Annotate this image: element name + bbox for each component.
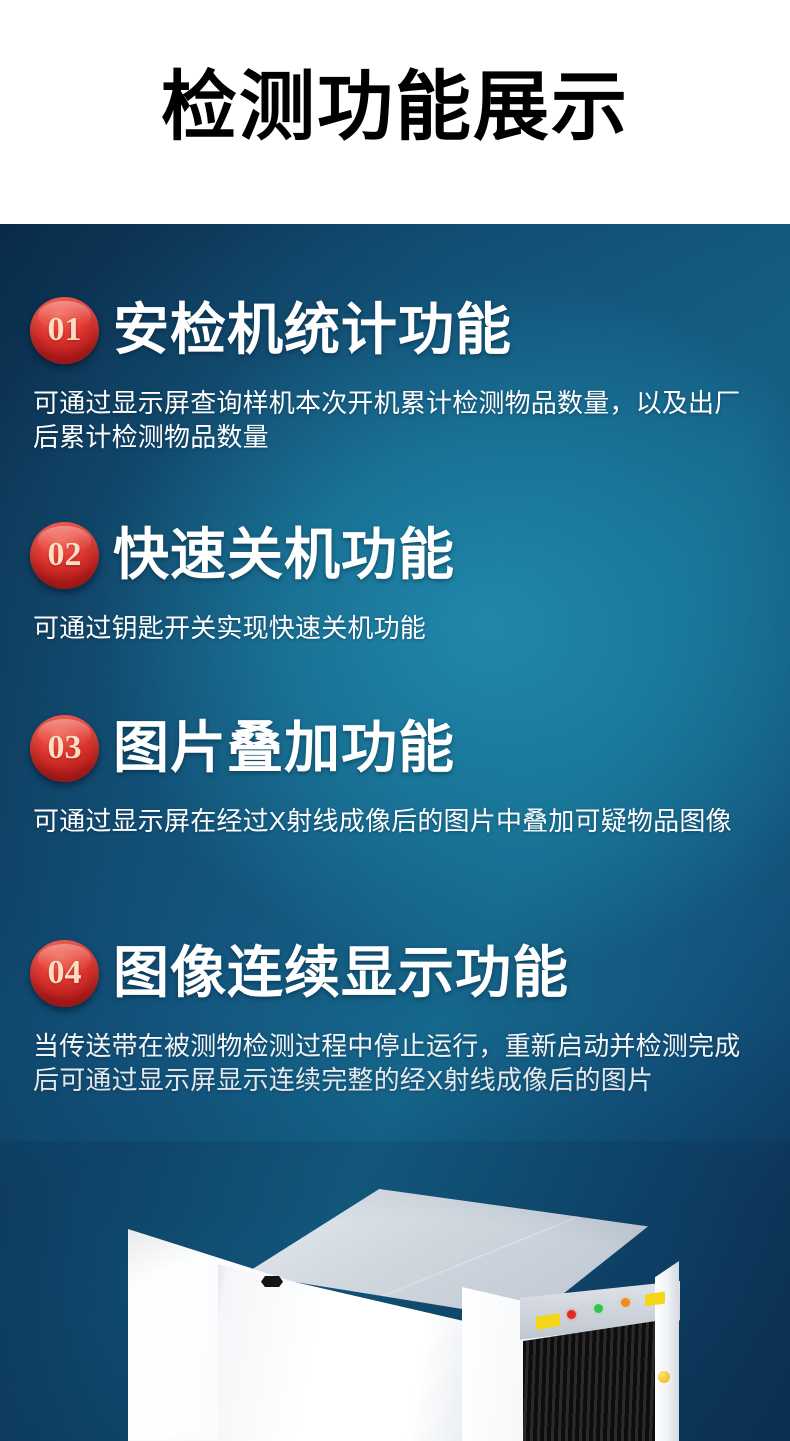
machine-left-panel xyxy=(128,1229,328,1441)
machine-front-panel xyxy=(218,1249,468,1441)
machine-top-deck xyxy=(228,1189,648,1359)
machine-front-edge xyxy=(218,1249,468,1441)
hazard-label-icon xyxy=(536,1313,560,1330)
number-badge-02: 02 xyxy=(30,522,99,589)
product-photo-xray-machine xyxy=(0,1141,790,1441)
title-band: 检测功能展示 xyxy=(0,0,790,224)
indicator-light-amber xyxy=(621,1298,630,1307)
machine-tunnel-header xyxy=(520,1281,680,1351)
feature-item-03: 03 图片叠加功能 可通过显示屏在经过X射线成像后的图片中叠加可疑物品图像 xyxy=(0,713,790,838)
machine-top-seam xyxy=(228,1189,648,1359)
indicator-light-green xyxy=(594,1304,603,1313)
badge-number-label: 03 xyxy=(48,731,82,765)
promo-page: 检测功能展示 01 安检机统计功能 可通过显示屏查询样机本次开机累计检测物品数量… xyxy=(0,0,790,1441)
number-badge-04: 04 xyxy=(30,940,99,1007)
number-badge-01: 01 xyxy=(30,297,99,364)
feature-title-04: 图像连续显示功能 xyxy=(113,945,569,1001)
feature-header-01: 01 安检机统计功能 xyxy=(0,295,790,365)
feature-description-02: 可通过钥匙开关实现快速关机功能 xyxy=(0,611,787,645)
feature-item-04: 04 图像连续显示功能 当传送带在被测物检测过程中停止运行，重新启动并检测完成后… xyxy=(0,938,790,1097)
feature-title-02: 快速关机功能 xyxy=(113,527,455,583)
emergency-stop-knob-icon xyxy=(658,1371,670,1383)
badge-number-label: 04 xyxy=(48,956,82,990)
feature-description-01: 可通过显示屏查询样机本次开机累计检测物品数量，以及出厂后累计检测物品数量 xyxy=(0,386,787,454)
indicator-light-red xyxy=(567,1310,576,1319)
badge-number-label: 01 xyxy=(48,313,82,347)
machine-photo-blend xyxy=(0,1141,790,1441)
machine-deck-fitting xyxy=(261,1276,283,1287)
feature-header-04: 04 图像连续显示功能 xyxy=(0,938,790,1008)
feature-item-02: 02 快速关机功能 可通过钥匙开关实现快速关机功能 xyxy=(0,520,790,645)
machine-right-panel xyxy=(462,1287,582,1441)
feature-header-02: 02 快速关机功能 xyxy=(0,520,790,590)
page-title: 检测功能展示 xyxy=(161,70,629,146)
number-badge-03: 03 xyxy=(30,715,99,782)
hazard-label-icon xyxy=(645,1291,665,1306)
feature-header-03: 03 图片叠加功能 xyxy=(0,713,790,783)
feature-description-03: 可通过显示屏在经过X射线成像后的图片中叠加可疑物品图像 xyxy=(0,804,787,838)
machine-right-post xyxy=(655,1261,679,1441)
feature-item-01: 01 安检机统计功能 可通过显示屏查询样机本次开机累计检测物品数量，以及出厂后累… xyxy=(0,295,790,454)
machine-lead-curtain xyxy=(523,1319,669,1441)
feature-panel: 01 安检机统计功能 可通过显示屏查询样机本次开机累计检测物品数量，以及出厂后累… xyxy=(0,224,790,1441)
feature-description-04: 当传送带在被测物检测过程中停止运行，重新启动并检测完成后可通过显示屏显示连续完整… xyxy=(0,1029,787,1097)
badge-number-label: 02 xyxy=(48,538,82,572)
feature-title-01: 安检机统计功能 xyxy=(113,302,512,358)
feature-title-03: 图片叠加功能 xyxy=(113,720,455,776)
